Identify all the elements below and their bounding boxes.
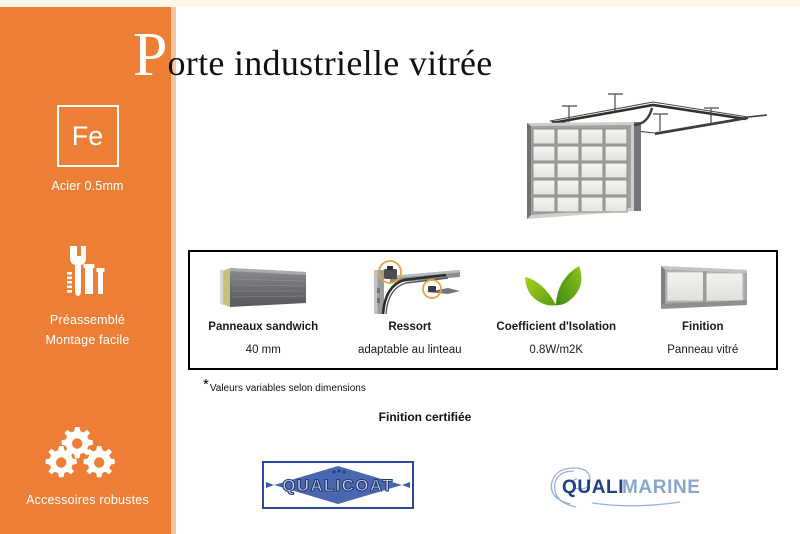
svg-text:QUALI: QUALI [562, 477, 624, 498]
feature-panneaux-sandwich: Panneaux sandwich 40 mm [190, 252, 337, 368]
page-title: Porte industrielle vitrée [133, 24, 493, 86]
sidebar-item-accessories: Accessoires robustes [0, 420, 175, 510]
feature-value: 0.8W/m2K [529, 343, 583, 357]
feature-title: Ressort [388, 320, 431, 334]
fe-element-icon: Fe [57, 105, 119, 167]
top-strip [0, 0, 800, 7]
sidebar-item-preassembled-label-2: Montage facile [0, 330, 175, 350]
page-title-capital: P [133, 24, 167, 86]
fe-symbol-label: Fe [72, 123, 104, 150]
sandwich-panel-image [208, 256, 318, 318]
sidebar-item-steel-label: Acier 0.5mm [0, 176, 175, 196]
sidebar-item-steel: Fe Acier 0.5mm [0, 105, 175, 196]
feature-title: Coefficient d'Isolation [496, 320, 616, 334]
sidebar-item-accessories-label: Accessoires robustes [0, 490, 175, 510]
sidebar-item-preassembled-label-1: Préassemblé [0, 310, 175, 330]
page-title-rest: orte industrielle vitrée [167, 39, 492, 87]
qualicoat-logo: QUALICOAT [262, 461, 414, 509]
sectional-garage-door-image [505, 78, 770, 228]
glazed-panel-image [653, 256, 753, 318]
qualimarine-logo: QUALI MARINE [540, 462, 710, 510]
poster-page: Fe Acier 0.5mm [0, 0, 800, 534]
svg-text:MARINE: MARINE [622, 477, 701, 498]
certification-heading: Finition certifiée [0, 410, 800, 424]
feature-value: Panneau vitré [667, 343, 738, 357]
feature-value: 40 mm [246, 343, 281, 357]
feature-value: adaptable au linteau [358, 343, 462, 357]
svg-text:QUALICOAT: QUALICOAT [282, 476, 393, 495]
spring-mechanism-image [356, 256, 464, 318]
feature-title: Panneaux sandwich [208, 320, 318, 334]
feature-finition: Finition Panneau vitré [630, 252, 777, 368]
feature-title: Finition [682, 320, 724, 334]
feature-coefficient-isolation: Coefficient d'Isolation 0.8W/m2K [483, 252, 630, 368]
footnote: * Valeurs variables selon dimensions [203, 380, 366, 395]
footnote-text: Valeurs variables selon dimensions [210, 383, 366, 395]
sidebar-item-preassembled: Préassemblé Montage facile [0, 240, 175, 350]
gears-icon [0, 420, 175, 482]
footnote-asterisk: * [203, 380, 209, 390]
green-leaf-icon [517, 256, 595, 318]
feature-ressort: Ressort adaptable au linteau [337, 252, 484, 368]
feature-box: Panneaux sandwich 40 mm [188, 250, 778, 370]
wrench-tools-icon [0, 240, 175, 302]
